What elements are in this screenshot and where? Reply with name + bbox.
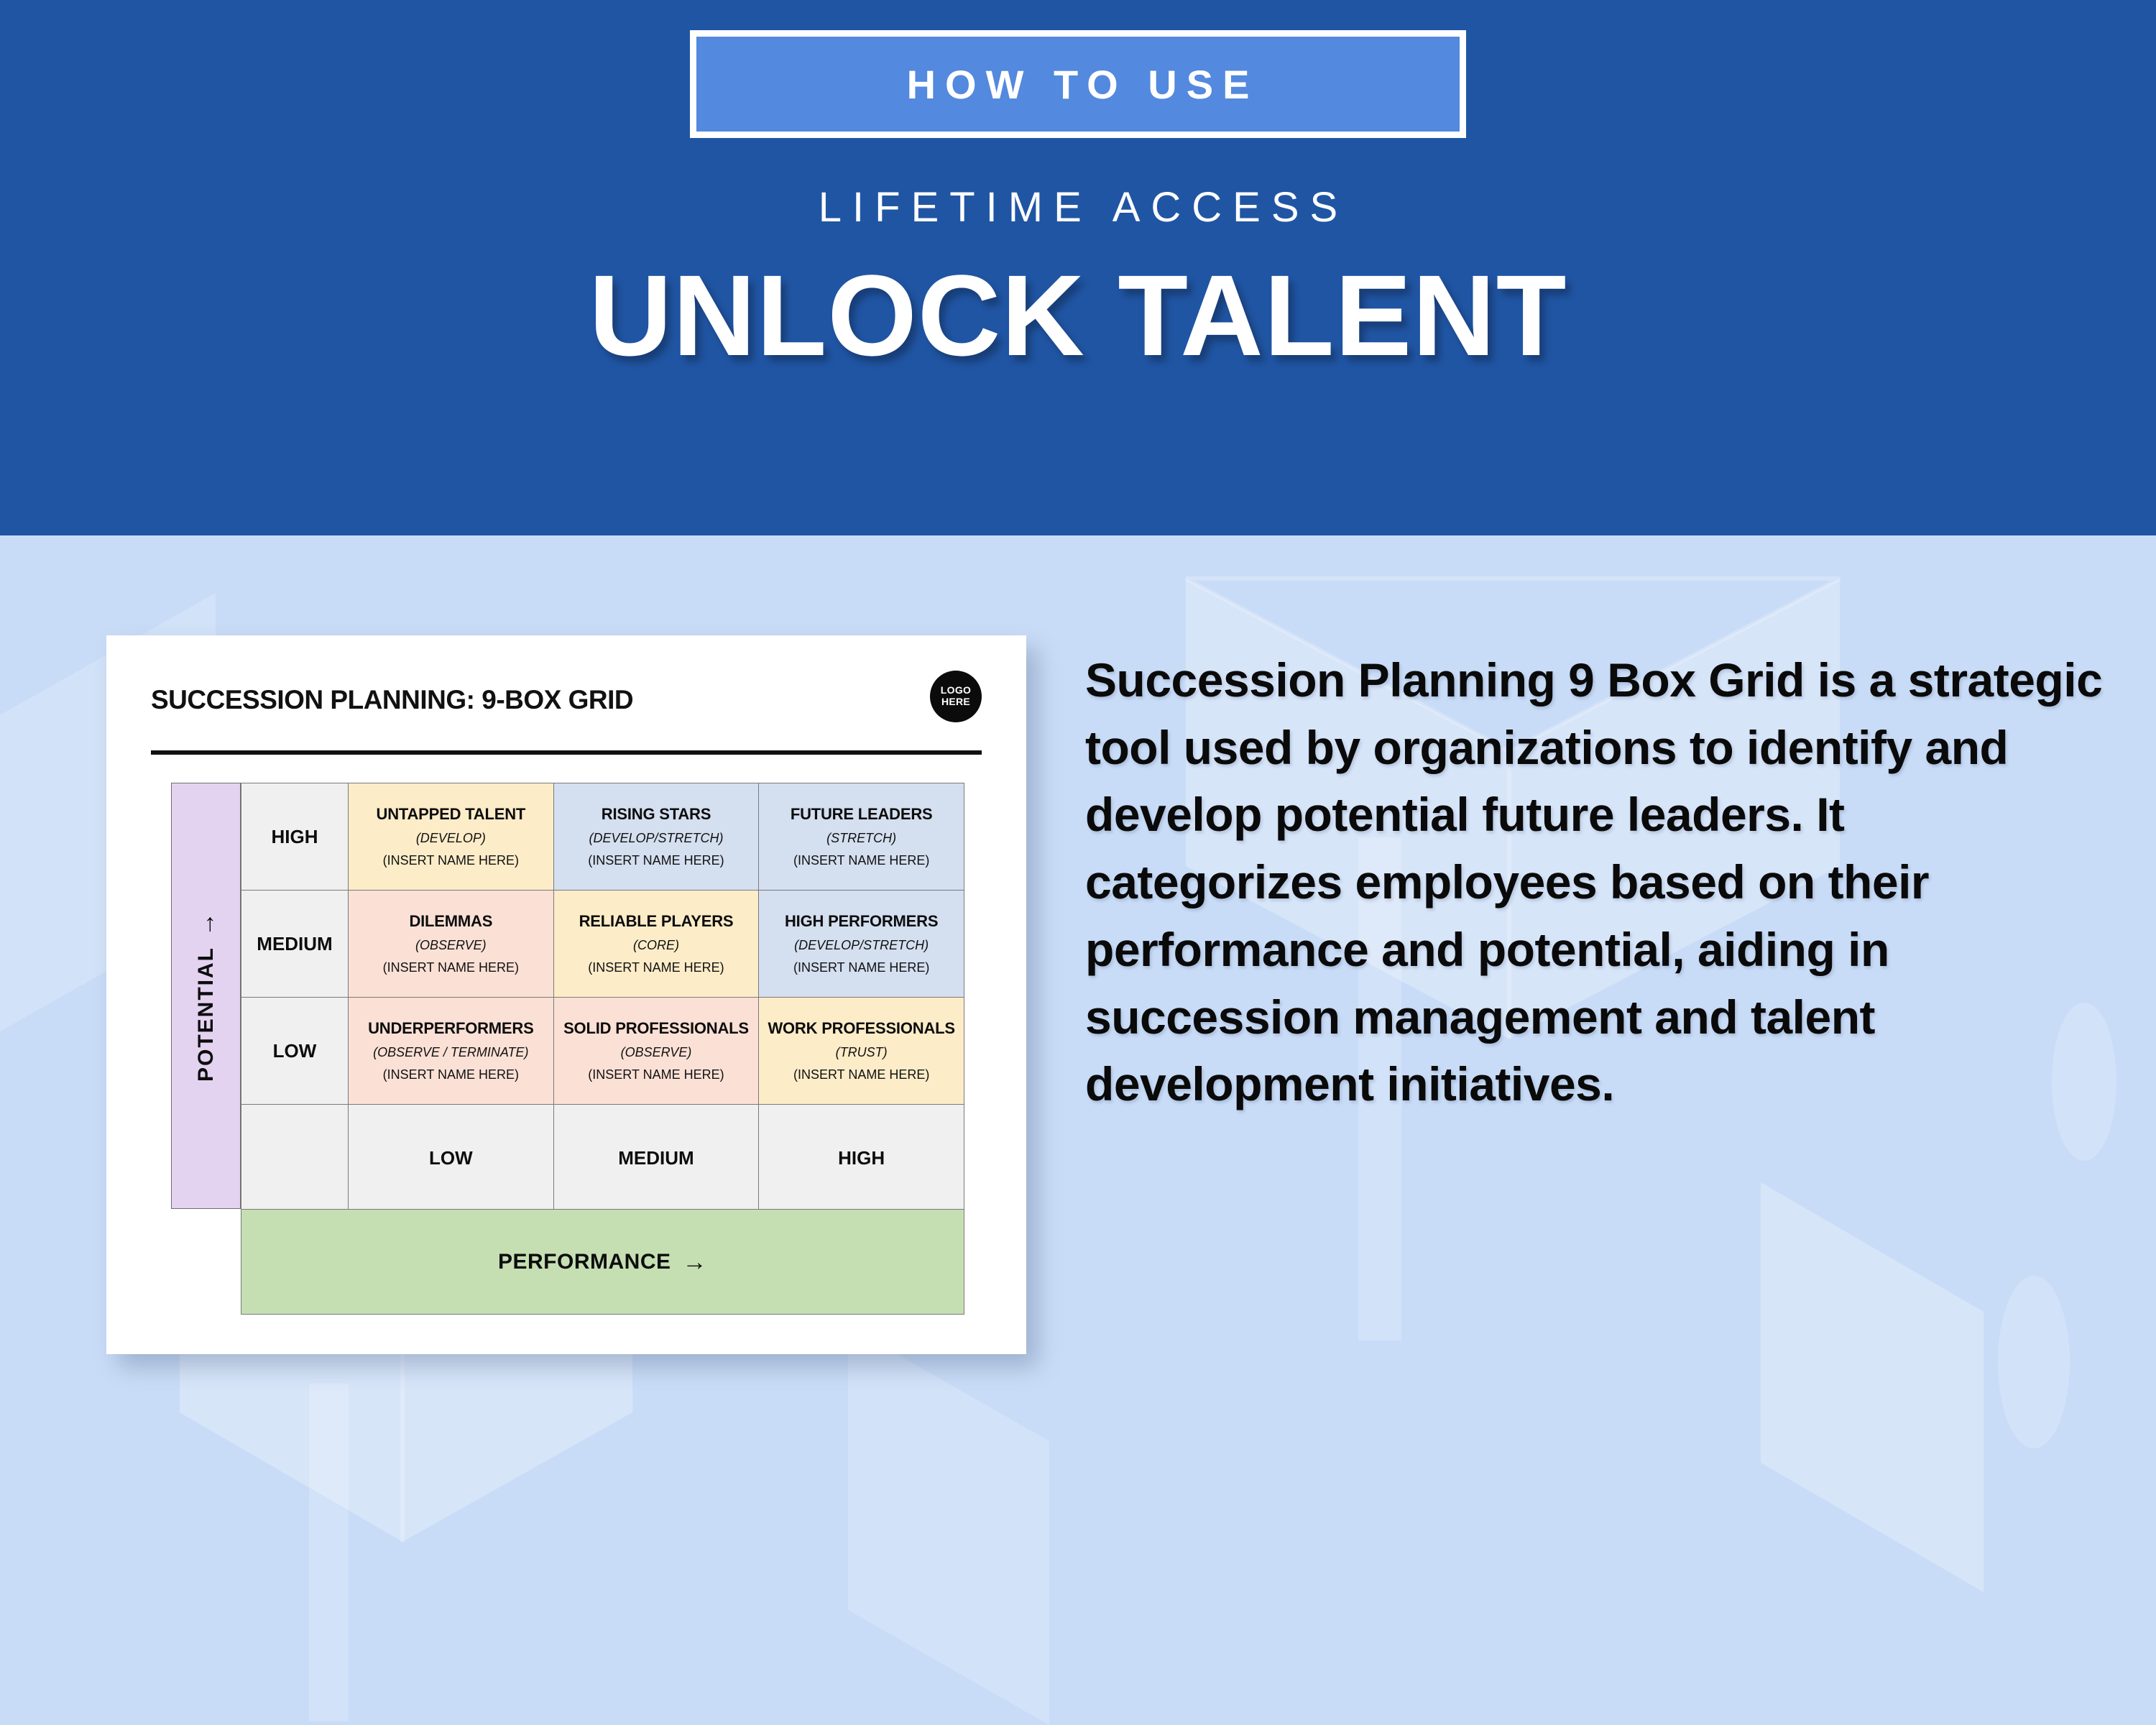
description-paragraph: Succession Planning 9 Box Grid is a stra… bbox=[1085, 647, 2106, 1118]
nine-box-table: HIGH UNTAPPED TALENT (DEVELOP) (INSERT N… bbox=[241, 783, 964, 1212]
cell-action: (CORE) bbox=[554, 938, 759, 954]
table-row: HIGH UNTAPPED TALENT (DEVELOP) (INSERT N… bbox=[241, 783, 964, 891]
cell-title: RELIABLE PLAYERS bbox=[554, 912, 759, 931]
row-label-high: HIGH bbox=[241, 783, 349, 891]
cell-action: (TRUST) bbox=[759, 1045, 964, 1061]
how-to-use-label: HOW TO USE bbox=[898, 61, 1259, 108]
performance-axis-bar: PERFORMANCE → bbox=[241, 1209, 964, 1315]
cell-dilemmas[interactable]: DILEMMAS (OBSERVE) (INSERT NAME HERE) bbox=[349, 891, 554, 998]
logo-line-2: HERE bbox=[941, 696, 970, 708]
table-row: MEDIUM DILEMMAS (OBSERVE) (INSERT NAME H… bbox=[241, 891, 964, 998]
logo-line-1: LOGO bbox=[941, 685, 971, 696]
cell-insert-name[interactable]: (INSERT NAME HERE) bbox=[554, 853, 759, 869]
table-row: LOW MEDIUM HIGH bbox=[241, 1105, 964, 1212]
card-header: SUCCESSION PLANNING: 9-BOX GRID LOGO HER… bbox=[151, 682, 982, 740]
cell-title: WORK PROFESSIONALS bbox=[759, 1019, 964, 1038]
cell-title: UNDERPERFORMERS bbox=[349, 1019, 553, 1038]
row-label-low: LOW bbox=[241, 998, 349, 1105]
cell-title: HIGH PERFORMERS bbox=[759, 912, 964, 931]
row-label-medium: MEDIUM bbox=[241, 891, 349, 998]
how-to-use-badge: HOW TO USE bbox=[690, 30, 1466, 138]
potential-arrow-icon: → bbox=[194, 911, 218, 937]
cell-title: UNTAPPED TALENT bbox=[349, 805, 553, 824]
cell-work-professionals[interactable]: WORK PROFESSIONALS (TRUST) (INSERT NAME … bbox=[759, 998, 964, 1105]
logo-placeholder-icon: LOGO HERE bbox=[930, 671, 982, 722]
cell-reliable-players[interactable]: RELIABLE PLAYERS (CORE) (INSERT NAME HER… bbox=[553, 891, 759, 998]
cell-insert-name[interactable]: (INSERT NAME HERE) bbox=[759, 1067, 964, 1083]
potential-axis-column: POTENTIAL → bbox=[171, 783, 241, 1209]
cell-solid-professionals[interactable]: SOLID PROFESSIONALS (OBSERVE) (INSERT NA… bbox=[553, 998, 759, 1105]
cell-title: RISING STARS bbox=[554, 805, 759, 824]
corner-spacer bbox=[241, 1105, 349, 1212]
cell-high-performers[interactable]: HIGH PERFORMERS (DEVELOP/STRETCH) (INSER… bbox=[759, 891, 964, 998]
page-title: UNLOCK TALENT bbox=[0, 255, 2156, 376]
grid-area: POTENTIAL → HIGH UNTAPPED TALENT (DEVELO… bbox=[171, 783, 964, 1315]
cell-insert-name[interactable]: (INSERT NAME HERE) bbox=[554, 1067, 759, 1083]
cell-insert-name[interactable]: (INSERT NAME HERE) bbox=[759, 853, 964, 869]
cell-title: DILEMMAS bbox=[349, 912, 553, 931]
potential-axis-label: POTENTIAL bbox=[194, 947, 218, 1082]
cell-insert-name[interactable]: (INSERT NAME HERE) bbox=[759, 960, 964, 976]
cell-action: (DEVELOP/STRETCH) bbox=[554, 831, 759, 847]
performance-arrow-icon: → bbox=[683, 1250, 708, 1274]
cell-untapped-talent[interactable]: UNTAPPED TALENT (DEVELOP) (INSERT NAME H… bbox=[349, 783, 554, 891]
cell-insert-name[interactable]: (INSERT NAME HERE) bbox=[554, 960, 759, 976]
cell-action: (OBSERVE) bbox=[554, 1045, 759, 1061]
cell-action: (DEVELOP/STRETCH) bbox=[759, 938, 964, 954]
header-band: HOW TO USE LIFETIME ACCESS UNLOCK TALENT bbox=[0, 0, 2156, 535]
cell-title: FUTURE LEADERS bbox=[759, 805, 964, 824]
cell-action: (STRETCH) bbox=[759, 831, 964, 847]
performance-axis-label: PERFORMANCE bbox=[498, 1250, 671, 1274]
table-row: LOW UNDERPERFORMERS (OBSERVE / TERMINATE… bbox=[241, 998, 964, 1105]
cell-future-leaders[interactable]: FUTURE LEADERS (STRETCH) (INSERT NAME HE… bbox=[759, 783, 964, 891]
cell-title: SOLID PROFESSIONALS bbox=[554, 1019, 759, 1038]
title-divider bbox=[151, 750, 982, 755]
column-label-medium: MEDIUM bbox=[553, 1105, 759, 1212]
cell-insert-name[interactable]: (INSERT NAME HERE) bbox=[349, 853, 553, 869]
cell-action: (DEVELOP) bbox=[349, 831, 553, 847]
nine-box-grid-card: SUCCESSION PLANNING: 9-BOX GRID LOGO HER… bbox=[106, 635, 1026, 1354]
cell-underperformers[interactable]: UNDERPERFORMERS (OBSERVE / TERMINATE) (I… bbox=[349, 998, 554, 1105]
card-title: SUCCESSION PLANNING: 9-BOX GRID bbox=[151, 685, 633, 715]
cell-insert-name[interactable]: (INSERT NAME HERE) bbox=[349, 960, 553, 976]
cell-action: (OBSERVE) bbox=[349, 938, 553, 954]
column-label-low: LOW bbox=[349, 1105, 554, 1212]
lifetime-access-subtitle: LIFETIME ACCESS bbox=[0, 183, 2156, 231]
column-label-high: HIGH bbox=[759, 1105, 964, 1212]
cell-insert-name[interactable]: (INSERT NAME HERE) bbox=[349, 1067, 553, 1083]
cell-rising-stars[interactable]: RISING STARS (DEVELOP/STRETCH) (INSERT N… bbox=[553, 783, 759, 891]
cell-action: (OBSERVE / TERMINATE) bbox=[349, 1045, 553, 1061]
